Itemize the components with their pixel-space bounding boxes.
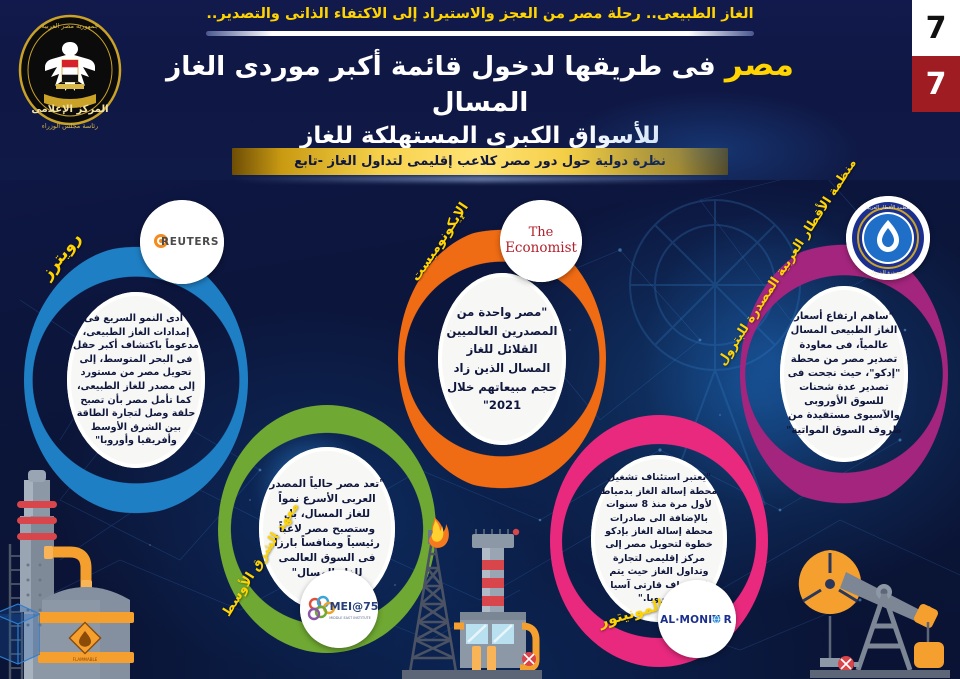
logo-bubble-al-monitor[interactable]: AL·MONIT R <box>658 580 736 658</box>
header-kicker: الغاز الطبيعى.. رحلة مصر من العجز والاست… <box>140 6 820 22</box>
corner-badges: 7 7 <box>912 0 960 112</box>
quote-bubble-oapec: "ساهم ارتفاع أسعار الغاز الطبيعى المسال … <box>780 286 909 463</box>
svg-text:REUTERS: REUTERS <box>161 236 219 248</box>
al-monitor-logo-icon: AL·MONIT R <box>658 580 736 658</box>
logo-bubble-economist[interactable]: The Economist <box>500 200 582 282</box>
svg-text:منظمة الأقطار العربية: منظمة الأقطار العربية <box>865 204 911 211</box>
svg-text:FLAMMABLE: FLAMMABLE <box>73 657 98 662</box>
reuters-logo-icon: REUTERS <box>140 200 224 284</box>
svg-text:The: The <box>529 225 554 240</box>
svg-text:AL·MONIT R: AL·MONIT R <box>660 614 732 626</box>
quote-bubble-reuters: "أدى النمو السريع فى إمدادات الغاز الطبي… <box>67 292 206 469</box>
logo-bubble-mei[interactable]: MEI@75 MIDDLE EAST INSTITUTE <box>300 570 378 648</box>
svg-text:المصدرة للبترول: المصدرة للبترول <box>871 270 905 276</box>
svg-text:MEI@75: MEI@75 <box>330 600 378 613</box>
subtitle-text: نظرة دولية حول دور مصر كلاعب إقليمى لتدا… <box>294 154 666 169</box>
svg-text:Economist: Economist <box>505 240 577 256</box>
logo-bubble-oapec[interactable]: منظمة الأقطار العربية المصدرة للبترول <box>846 196 930 280</box>
subtitle-banner: نظرة دولية حول دور مصر كلاعب إقليمى لتدا… <box>232 148 728 175</box>
gas-flare-and-plant-illustration <box>398 512 578 679</box>
oil-pumpjack-illustration <box>788 524 958 679</box>
page-title-highlight: مصر <box>725 47 794 83</box>
svg-text:رئاسة مجلس الوزراء: رئاسة مجلس الوزراء <box>42 122 98 130</box>
subtitle-banner-glow <box>232 176 728 182</box>
cabinet-media-center-logo: المركز الإعلامى جمهورية مصر العربية رئاس… <box>8 8 132 140</box>
svg-text:المركز الإعلامى: المركز الإعلامى <box>31 104 108 115</box>
svg-text:جمهورية مصر العربية: جمهورية مصر العربية <box>41 22 98 30</box>
page-title-line2: للأسواق الكبرى المستهلكة للغاز <box>130 122 830 151</box>
economist-logo-icon: The Economist <box>500 200 582 282</box>
header-divider-rule <box>206 31 754 36</box>
mei-logo-icon: MEI@75 MIDDLE EAST INSTITUTE <box>300 570 378 648</box>
badge-number-bottom: 7 <box>912 56 960 112</box>
quote-text-oapec: "ساهم ارتفاع أسعار الغاز الطبيعى المسال … <box>780 306 909 442</box>
oapec-logo-icon: منظمة الأقطار العربية المصدرة للبترول <box>846 196 930 280</box>
svg-text:MIDDLE EAST INSTITUTE: MIDDLE EAST INSTITUTE <box>329 616 371 620</box>
page-title: مصر فى طريقها لدخول قائمة أكبر موردى الغ… <box>130 46 830 151</box>
quote-text-reuters: "أدى النمو السريع فى إمدادات الغاز الطبي… <box>67 308 206 452</box>
network-cube-decoration <box>0 596 40 679</box>
page-title-line1: فى طريقها لدخول قائمة أكبر موردى الغاز ا… <box>166 51 725 118</box>
logo-bubble-reuters[interactable]: REUTERS <box>140 200 224 284</box>
header-band: المركز الإعلامى جمهورية مصر العربية رئاس… <box>0 0 960 180</box>
badge-number-top: 7 <box>912 0 960 56</box>
quote-bubble-economist: "مصر واحدة من المصدرين العالميين القلائل… <box>438 273 567 446</box>
quote-text-economist: "مصر واحدة من المصدرين العالميين القلائل… <box>438 299 567 418</box>
